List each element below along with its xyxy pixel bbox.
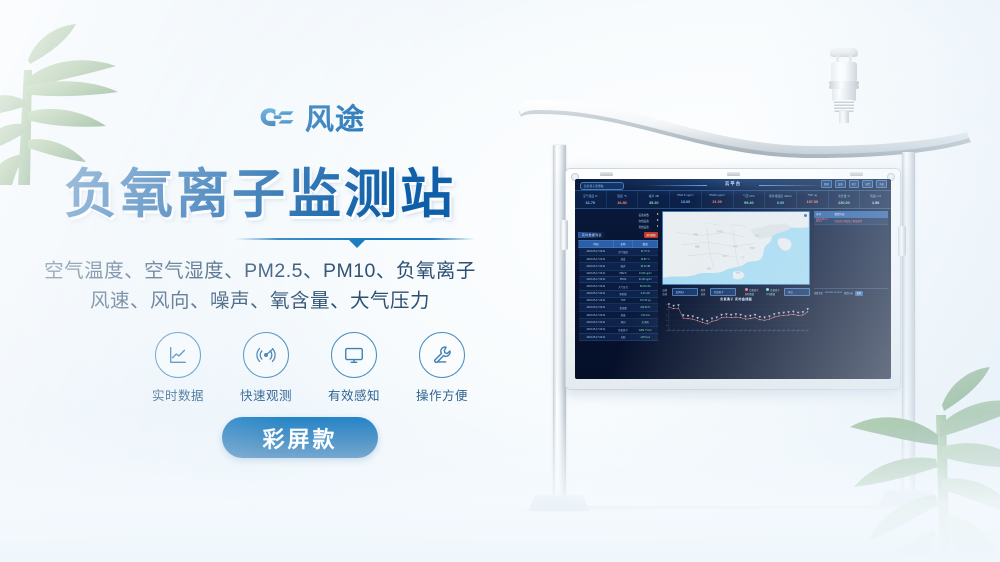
feature-item-realtime-data[interactable]: 实时数据 [140,332,216,404]
table-row[interactable]: 2023-05-17 09:41负氧离子1260 个/cm³ [579,326,658,333]
screen-nav-chips[interactable]: 数据 设备 统计 报警 系统 [821,180,887,188]
table-cell: 2023-05-17 09:41 [579,304,614,311]
table-cell: 紫外线 [613,290,632,297]
dashboard-screen[interactable]: 负氧离子监测站 云平台 数据 设备 统计 报警 系统 空气湿度 %61.70温度… [575,179,891,379]
table-cell: 99.40 kPa [633,283,658,290]
table-cell: 45.20 dB [633,263,658,270]
factor-select-label: 要素选择 [701,288,707,296]
table-row[interactable]: 2023-05-17 09:41温度16.80 ℃ [579,255,658,262]
support-pole-right [902,152,915,500]
device-select-label: 设备选择 [662,288,668,296]
alarm-footer-item[interactable]: 报警记录 [844,291,853,295]
title-divider [130,232,475,250]
table-cell: 风速 [613,311,632,318]
table-cell: 噪声 [613,263,632,270]
table-cell: 2023-05-17 09:41 [579,255,614,262]
map-marker-icon[interactable] [804,214,807,217]
table-cell: 230.00 % [633,304,658,311]
ultrasonic-weather-sensor-icon [825,48,863,118]
table-cell: 1175 Lux [633,333,658,340]
line-chart-icon [155,332,201,378]
feature-label: 实时数据 [140,385,216,404]
table-cell: 负氧离子 [613,326,632,333]
realtime-data-table: 时间名称数值 2023-05-17 09:41空气湿度61.70 %2023-0… [578,240,658,341]
alarm-footer-item[interactable]: 查看全部 [814,291,823,295]
device-stat: 在线设备2 [578,219,658,223]
table-column-header: 时间 [579,240,614,248]
ground-line [535,506,935,509]
table-cell: 风向 [613,319,632,326]
factor-select[interactable]: 负氧离子 [710,288,736,296]
table-cell: 61.70 % [633,248,658,255]
alarm-more-button[interactable]: 更多 [855,291,863,297]
alarm-footer: 查看全部 2023-05-17 09:37 报警记录 更多 [814,288,888,296]
subtitle-line-1: 空气温度、空气湿度、PM2.5、PM10、负氧离子 [0,256,520,286]
monitor-icon [331,332,377,378]
screen-left-column: 设备总数3在线设备2离线设备1 实时数据列表 实时刷新 时间名称数值 2023-… [575,209,660,379]
nav-chip[interactable]: 设备 [835,180,846,188]
alarm-footer-item: 2023-05-17 09:37 [825,292,842,294]
china-map[interactable]: 新疆内蒙古 中国西藏 四川广东 日本韩国 印度南海 [662,211,810,285]
screen-header: 负氧离子监测站 云平台 数据 设备 统计 报警 系统 [575,179,891,190]
feature-list: 实时数据 快速观测 [140,332,480,404]
table-cell: 2023-05-17 09:41 [579,290,614,297]
nav-chip[interactable]: 系统 [876,180,887,188]
svg-text:四川: 四川 [723,255,727,258]
table-row[interactable]: 2023-05-17 09:41紫外线0.00 uW [579,290,658,297]
table-cell: 0.00 uW [633,290,658,297]
pole-base-right [878,490,940,506]
chart-legend-item: 负氧离子平均数值 [766,288,781,296]
table-cell: 空气湿度 [613,248,632,255]
alarm-empty-area [814,225,888,287]
table-row[interactable]: 2023-05-17 09:41大气压力99.40 kPa [579,283,658,290]
canopy-awning [515,90,975,160]
outdoor-display-frame: 负氧离子监测站 云平台 数据 设备 统计 报警 系统 空气湿度 %61.70温度… [565,168,901,390]
table-cell: 2023-05-17 09:41 [579,263,614,270]
table-cell: 1.50 m/s [633,311,658,318]
device-stat: 设备总数3 [578,213,658,217]
wind-cloud-logo-icon [258,104,298,136]
nav-chip[interactable]: 数据 [821,180,832,188]
feature-label: 操作方便 [404,385,480,404]
monitoring-station: 负氧离子监测站 云平台 数据 设备 统计 报警 系统 空气湿度 %61.70温度… [505,40,975,550]
feature-item-easy-operation[interactable]: 操作方便 [404,332,480,404]
table-cell: 16.80 ℃ [633,255,658,262]
chart-legend-item: 负氧离子实时数值 [745,288,760,296]
hero-text-block: 风途 负氧离子监测站 空气温度、空气湿度、PM2.5、PM10、负氧离子 风速、… [0,0,520,562]
table-row[interactable]: 2023-05-17 09:41空气湿度61.70 % [579,248,658,255]
table-row[interactable]: 2023-05-17 09:41噪声45.20 dB [579,263,658,270]
table-column-header: 名称 [613,240,632,248]
table-row[interactable]: 2023-05-17 09:41光照1175 Lux [579,333,658,340]
table-title: 实时数据列表 [578,232,606,238]
feature-item-effective-sensing[interactable]: 有效感知 [316,332,392,404]
table-cell: 2023-05-17 09:41 [579,311,614,318]
subtitle-line-2: 风速、风向、噪声、氧含量、大气压力 [0,286,520,316]
brand-name: 风途 [305,106,365,135]
table-cell: 2023-05-17 09:41 [579,283,614,290]
table-cell: 1260 个/cm³ [633,326,658,333]
screen-center-column: 新疆内蒙古 中国西藏 四川广东 日本韩国 印度南海 设备选择 [660,209,812,379]
wrench-icon [419,332,465,378]
table-cell: 光照 [613,333,632,340]
table-cell: 温度 [613,255,632,262]
alarm-row[interactable]: 2023-05-17 09:37 负氧离子浓度低于阈值报警 [814,218,888,226]
nav-chip[interactable]: 统计 [849,180,860,188]
alarm-table-header: 序号 报警内容 [814,211,888,218]
device-select[interactable]: 监测站1 [672,288,698,296]
feature-item-fast-observation[interactable]: 快速观测 [228,332,304,404]
feature-label: 快速观测 [228,385,304,404]
table-row[interactable]: 2023-05-17 09:41风速1.50 m/s [579,311,658,318]
radar-signal-icon [243,332,289,378]
table-cell: 2023-05-17 09:41 [579,319,614,326]
table-refresh-button[interactable]: 实时刷新 [644,232,659,238]
screen-right-column: 序号 报警内容 2023-05-17 09:37 负氧离子浓度低于阈值报警 查看… [812,209,891,379]
brand-logo: 风途 [258,104,365,136]
chart-title: 负氧离子 实时曲线图 [662,297,810,301]
table-row[interactable]: 2023-05-17 09:41氧含量230.00 % [579,304,658,311]
nav-chip[interactable]: 报警 [862,180,873,188]
table-row[interactable]: 2023-05-17 09:41风向东南风 [579,319,658,326]
table-cell: 2023-05-17 09:41 [579,326,614,333]
table-cell: 大气压力 [613,283,632,290]
table-cell: 氧含量 [613,304,632,311]
product-variant-button[interactable]: 彩屏款 [222,417,378,458]
table-cell: 2023-05-17 09:41 [579,248,614,255]
subtitle: 空气温度、空气湿度、PM2.5、PM10、负氧离子 风速、风向、噪声、氧含量、大… [0,256,520,316]
promo-banner: 风途 负氧离子监测站 空气温度、空气湿度、PM2.5、PM10、负氧离子 风速、… [0,0,1000,562]
device-stat: 离线设备1 [578,225,658,229]
feature-label: 有效感知 [316,385,392,404]
page-title: 负氧离子监测站 [0,152,520,228]
table-cell: 东南风 [633,319,658,326]
realtime-line-chart [662,302,810,338]
chart-controls: 设备选择 监测站1 要素选择 负氧离子 负氧离子实时数值 负氧离子平均数值 [662,288,810,296]
table-cell: 2023-05-17 09:41 [579,333,614,340]
export-button[interactable]: 导出 [784,288,810,296]
device-summary: 设备总数3在线设备2离线设备1 [578,213,658,229]
table-column-header: 数值 [633,240,658,248]
